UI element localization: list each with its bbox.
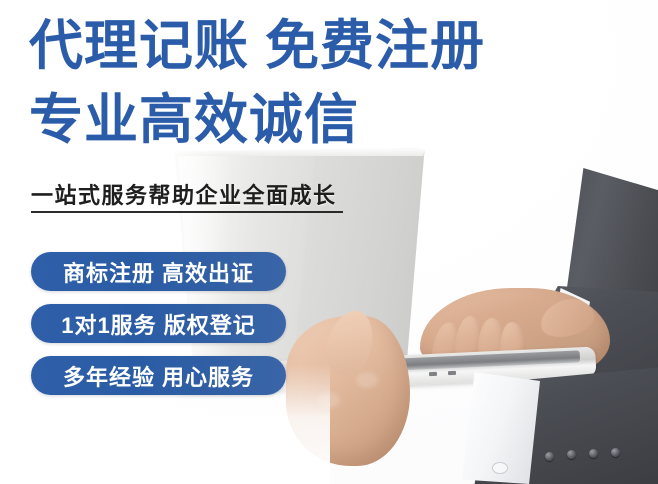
headline-line-1: 代理记账 免费注册 xyxy=(29,14,485,78)
promo-banner: 代理记账 免费注册 专业高效诚信 一站式服务帮助企业全面成长 商标注册 高效出证… xyxy=(0,0,658,484)
feature-pill[interactable]: 1对1服务 版权登记 xyxy=(31,304,286,343)
banner-content: 代理记账 免费注册 专业高效诚信 一站式服务帮助企业全面成长 商标注册 高效出证… xyxy=(0,0,658,484)
subheadline-divider xyxy=(31,211,343,213)
feature-pill-label: 多年经验 用心服务 xyxy=(63,360,254,392)
feature-pill-list: 商标注册 高效出证 1对1服务 版权登记 多年经验 用心服务 xyxy=(31,252,286,395)
headline-line-2: 专业高效诚信 xyxy=(29,88,359,152)
feature-pill[interactable]: 商标注册 高效出证 xyxy=(31,252,286,291)
subheadline: 一站式服务帮助企业全面成长 xyxy=(31,178,337,210)
feature-pill[interactable]: 多年经验 用心服务 xyxy=(31,356,286,395)
feature-pill-label: 1对1服务 版权登记 xyxy=(61,308,256,340)
feature-pill-label: 商标注册 高效出证 xyxy=(63,256,254,288)
